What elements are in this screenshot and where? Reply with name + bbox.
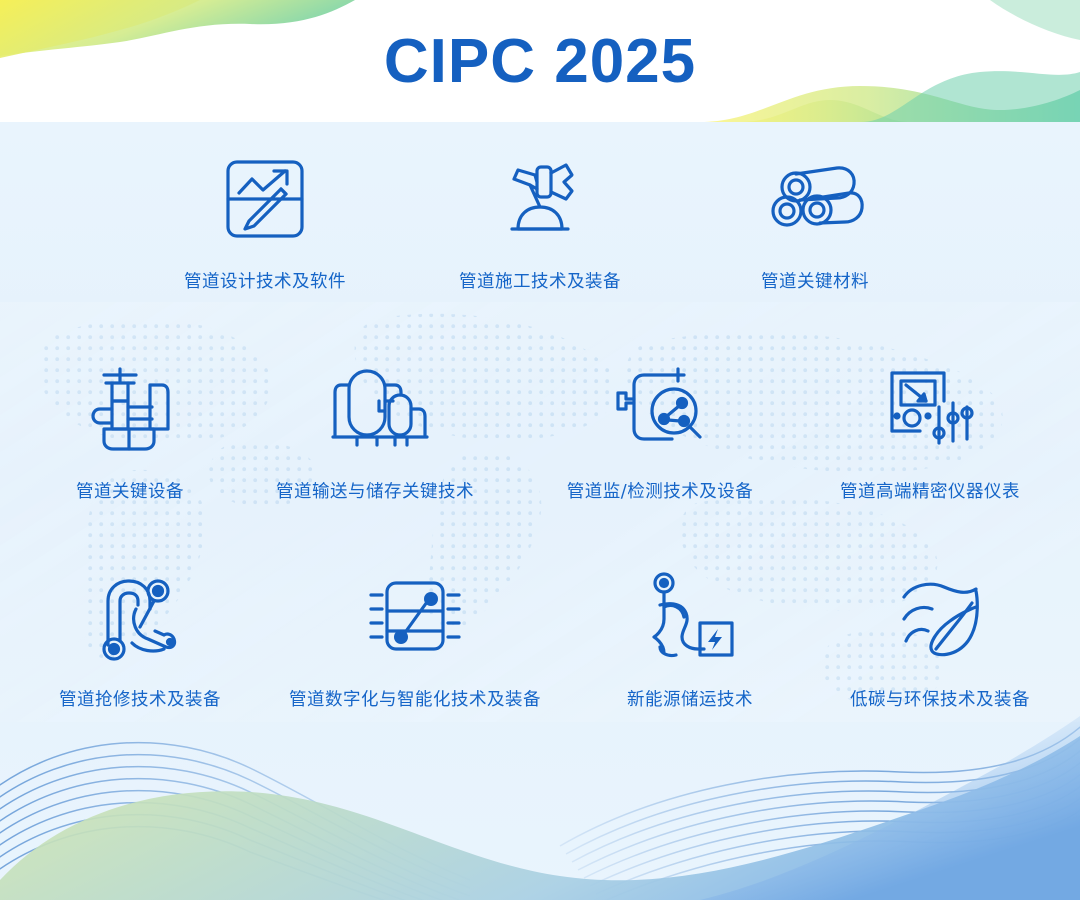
category-row-2: 管道关键设备 <box>0 354 1080 503</box>
header-banner: CIPC 2025 <box>0 0 1080 122</box>
category-label: 管道高端精密仪器仪表 <box>840 478 1020 503</box>
category-low-carbon-environmental[interactable]: 低碳与环保技术及装备 <box>815 562 1065 711</box>
page-title: CIPC 2025 <box>0 24 1080 100</box>
category-pipeline-precision-instruments[interactable]: 管道高端精密仪器仪表 <box>805 354 1055 503</box>
pipe-wrench-icon <box>92 562 188 672</box>
category-pipeline-key-equipment[interactable]: 管道关键设备 <box>25 354 235 503</box>
category-pipeline-design-software[interactable]: 管道设计技术及软件 <box>128 144 403 293</box>
category-label: 管道设计技术及软件 <box>184 268 346 293</box>
category-label: 管道关键设备 <box>76 478 184 503</box>
category-label: 低碳与环保技术及装备 <box>850 686 1030 711</box>
category-pipeline-monitoring-detection[interactable]: 管道监/检测技术及设备 <box>515 354 805 503</box>
valve-equipment-icon <box>82 354 178 464</box>
category-pipeline-digital-intelligent[interactable]: 管道数字化与智能化技术及装备 <box>265 562 565 711</box>
category-pipeline-emergency-repair[interactable]: 管道抢修技术及装备 <box>15 562 265 711</box>
category-row-3: 管道抢修技术及装备 <box>0 562 1080 711</box>
category-label: 管道输送与储存关键技术 <box>276 478 474 503</box>
category-pipeline-construction-equipment[interactable]: 管道施工技术及装备 <box>403 144 678 293</box>
meter-sliders-icon <box>882 354 978 464</box>
pipe-magnifier-icon <box>612 354 708 464</box>
poster-root: CIPC 2025 <box>0 0 1080 900</box>
robot-arm-icon <box>494 144 586 254</box>
category-label: 管道监/检测技术及设备 <box>567 478 753 503</box>
pipe-battery-icon <box>642 562 738 672</box>
category-label: 管道关键材料 <box>761 268 869 293</box>
stacked-pipes-icon <box>765 144 865 254</box>
category-row-1: 管道设计技术及软件 <box>0 144 1080 293</box>
leaf-wind-icon <box>892 562 988 672</box>
category-pipeline-key-materials[interactable]: 管道关键材料 <box>678 144 953 293</box>
chart-pencil-icon <box>219 144 311 254</box>
storage-tanks-icon <box>319 354 431 464</box>
content-panel: 管道设计技术及软件 <box>0 122 1080 900</box>
category-pipeline-transport-storage[interactable]: 管道输送与储存关键技术 <box>235 354 515 503</box>
category-new-energy-storage-transport[interactable]: 新能源储运技术 <box>565 562 815 711</box>
category-label: 管道抢修技术及装备 <box>59 686 221 711</box>
chip-network-icon <box>363 562 467 672</box>
category-label: 管道施工技术及装备 <box>459 268 621 293</box>
category-grid: 管道设计技术及软件 <box>0 122 1080 900</box>
category-label: 管道数字化与智能化技术及装备 <box>289 686 541 711</box>
category-label: 新能源储运技术 <box>627 686 753 711</box>
